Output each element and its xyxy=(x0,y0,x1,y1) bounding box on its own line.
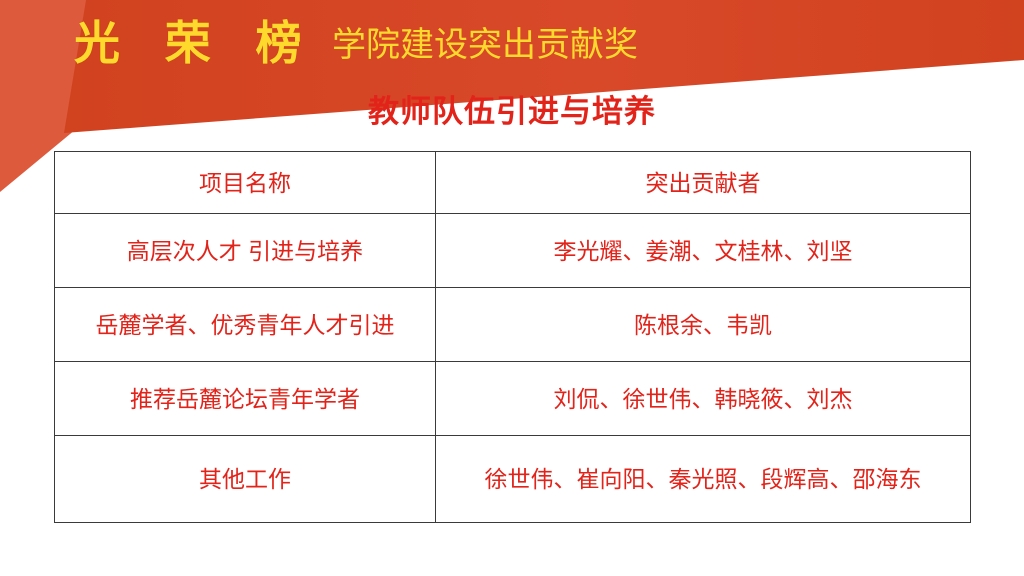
cell-contributors: 徐世伟、崔向阳、秦光照、段辉高、邵海东 xyxy=(436,436,971,523)
table-header-row: 项目名称 突出贡献者 xyxy=(55,152,971,214)
table-row: 其他工作 徐世伟、崔向阳、秦光照、段辉高、邵海东 xyxy=(55,436,971,523)
award-table: 项目名称 突出贡献者 高层次人才 引进与培养 李光耀、姜潮、文桂林、刘坚 岳麓学… xyxy=(54,151,971,523)
cell-contributors: 陈根余、韦凯 xyxy=(436,288,971,362)
section-title: 教师队伍引进与培养 xyxy=(0,92,1024,132)
column-header-contributors: 突出贡献者 xyxy=(436,152,971,214)
cell-project-name: 高层次人才 引进与培养 xyxy=(55,214,436,288)
table-row: 岳麓学者、优秀青年人才引进 陈根余、韦凯 xyxy=(55,288,971,362)
cell-project-name: 推荐岳麓论坛青年学者 xyxy=(55,362,436,436)
slide-root: 光 荣 榜 学院建设突出贡献奖 教师队伍引进与培养 项目名称 突出贡献者 高层次… xyxy=(0,0,1024,576)
cell-project-name: 岳麓学者、优秀青年人才引进 xyxy=(55,288,436,362)
cell-contributors: 刘侃、徐世伟、韩晓筱、刘杰 xyxy=(436,362,971,436)
column-header-project: 项目名称 xyxy=(55,152,436,214)
cell-contributors: 李光耀、姜潮、文桂林、刘坚 xyxy=(436,214,971,288)
honor-roll-title: 光 荣 榜 xyxy=(74,16,318,70)
table-row: 高层次人才 引进与培养 李光耀、姜潮、文桂林、刘坚 xyxy=(55,214,971,288)
cell-project-name: 其他工作 xyxy=(55,436,436,523)
table-row: 推荐岳麓论坛青年学者 刘侃、徐世伟、韩晓筱、刘杰 xyxy=(55,362,971,436)
honor-roll-subtitle: 学院建设突出贡献奖 xyxy=(332,24,638,66)
